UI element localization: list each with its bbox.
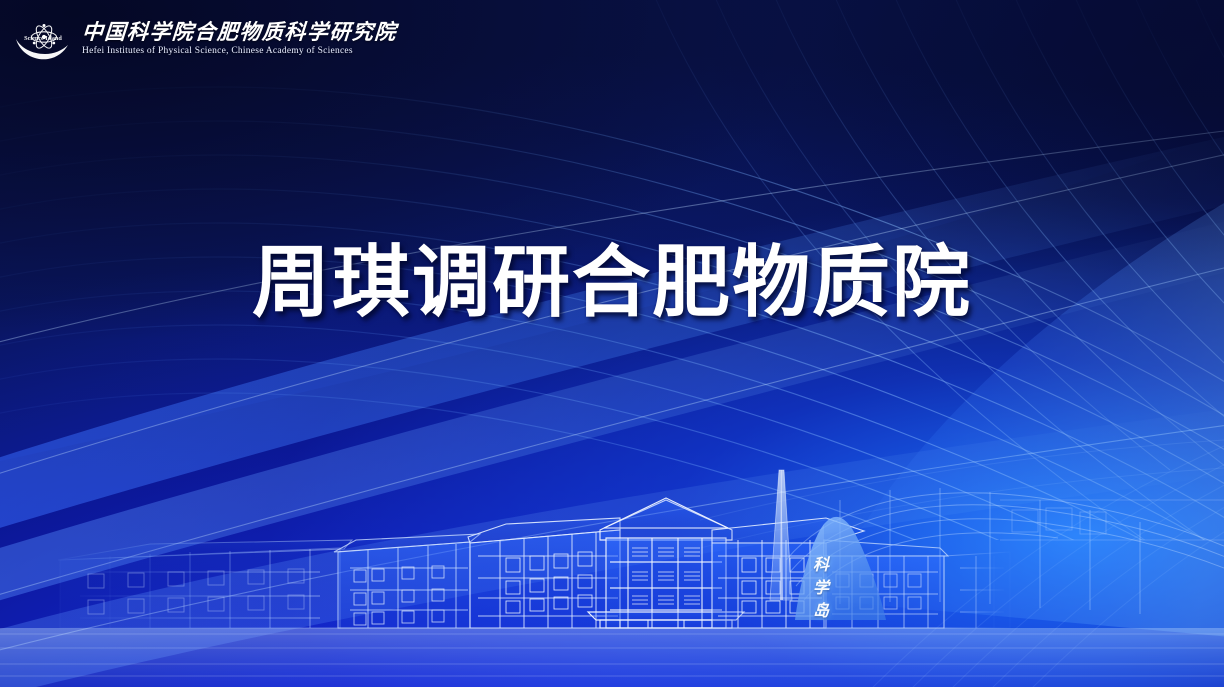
institute-header: Science Island 中国科学院合肥物质科学研究院 Hefei Inst… xyxy=(14,14,397,64)
svg-text:Science Island: Science Island xyxy=(24,35,62,42)
presentation-slide: Science Island 中国科学院合肥物质科学研究院 Hefei Inst… xyxy=(0,0,1224,687)
institute-name-block: 中国科学院合肥物质科学研究院 Hefei Institutes of Physi… xyxy=(82,22,397,57)
vignette-overlay xyxy=(0,0,1224,687)
institute-name-cn: 中国科学院合肥物质科学研究院 xyxy=(81,22,397,43)
institute-name-en: Hefei Institutes of Physical Science, Ch… xyxy=(82,47,397,57)
title-container: 周琪调研合肥物质院 xyxy=(0,243,1224,325)
page-title: 周琪调研合肥物质院 xyxy=(252,243,972,325)
science-island-atom-logo: Science Island xyxy=(14,17,71,62)
monument-label: 科学岛 xyxy=(806,556,830,625)
